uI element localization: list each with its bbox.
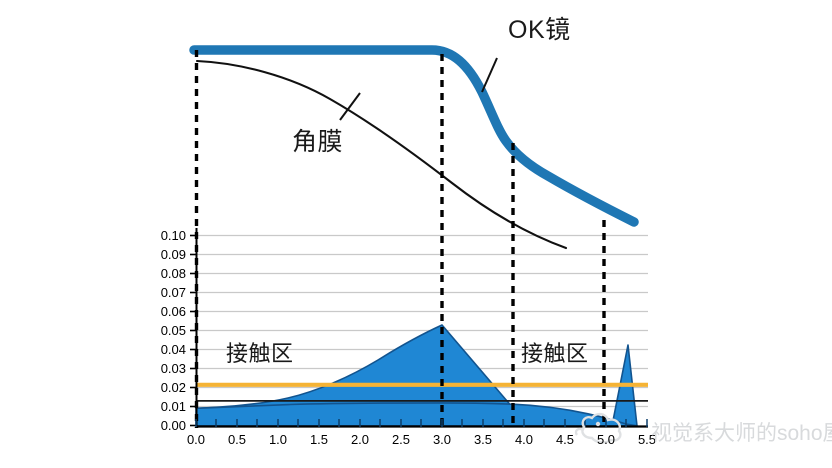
mascot-eye	[596, 422, 600, 426]
y-tick-label-0.03: 0.03	[152, 361, 186, 376]
x-tick-label-4.5: 4.5	[548, 432, 582, 447]
ok-lens-annotation-label: OK镜	[508, 10, 571, 46]
y-tick-label-0.00: 0.00	[152, 418, 186, 433]
x-tick-label-0.0: 0.0	[179, 432, 213, 447]
x-tick-label-5.0: 5.0	[589, 432, 623, 447]
y-tick-label-0.05: 0.05	[152, 323, 186, 338]
y-tick-label-0.07: 0.07	[152, 285, 186, 300]
x-tick-label-3.5: 3.5	[466, 432, 500, 447]
y-tick-label-0.06: 0.06	[152, 304, 186, 319]
x-tick-label-1.5: 1.5	[302, 432, 336, 447]
y-tick-label-0.09: 0.09	[152, 247, 186, 262]
x-tick-label-2.0: 2.0	[343, 432, 377, 447]
y-tick-label-0.04: 0.04	[152, 342, 186, 357]
ok-lens-cornea-tear-film-figure	[0, 0, 832, 468]
watermark-text: 视觉系大师的soho屋	[651, 417, 832, 447]
x-tick-label-1.0: 1.0	[261, 432, 295, 447]
y-tick-label-0.02: 0.02	[152, 380, 186, 395]
contact-zone-right-label: 接触区	[521, 336, 589, 368]
x-tick-label-2.5: 2.5	[384, 432, 418, 447]
y-tick-label-0.10: 0.10	[152, 228, 186, 243]
x-tick-label-3.0: 3.0	[425, 432, 459, 447]
y-tick-label-0.01: 0.01	[152, 399, 186, 414]
x-tick-label-0.5: 0.5	[220, 432, 254, 447]
y-tick-label-0.08: 0.08	[152, 266, 186, 281]
x-tick-label-4.0: 4.0	[507, 432, 541, 447]
cornea-annotation-label: 角膜	[292, 122, 343, 158]
contact-zone-left-label: 接触区	[226, 336, 294, 368]
